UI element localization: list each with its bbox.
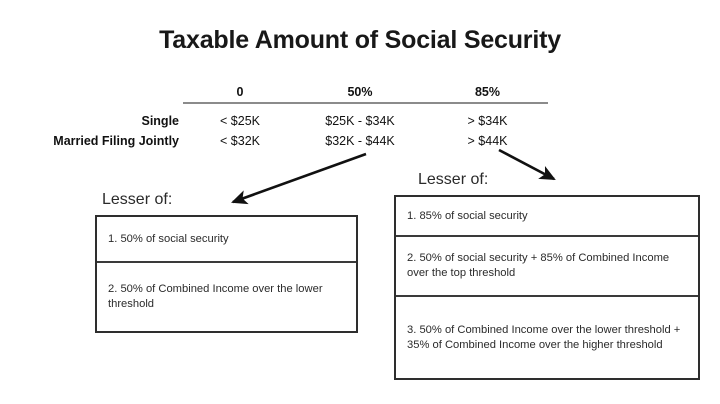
- list-item: 2. 50% of social security + 85% of Combi…: [396, 237, 698, 297]
- arrow-to-right-box: [499, 150, 554, 179]
- cell-married-50: $32K - $44K: [295, 134, 425, 148]
- row-label-married-filing-jointly: Married Filing Jointly: [46, 134, 185, 148]
- left-lesser-of-box: 1. 50% of social security 2. 50% of Comb…: [95, 215, 358, 333]
- right-box-label: Lesser of:: [418, 171, 488, 189]
- table-row: Single < $25K $25K - $34K > $34K: [46, 111, 556, 131]
- cell-married-85: > $44K: [425, 134, 550, 148]
- table-row: Married Filing Jointly < $32K $32K - $44…: [46, 131, 556, 151]
- cell-single-85: > $34K: [425, 114, 550, 128]
- row-label-single: Single: [46, 114, 185, 128]
- table-header-85: 85%: [425, 85, 550, 99]
- list-item: 1. 85% of social security: [396, 197, 698, 237]
- cell-single-50: $25K - $34K: [295, 114, 425, 128]
- table-header-0: 0: [185, 85, 295, 99]
- right-lesser-of-box: 1. 85% of social security 2. 50% of soci…: [394, 195, 700, 380]
- page-title: Taxable Amount of Social Security: [0, 26, 720, 55]
- table-header-rule: [183, 102, 548, 104]
- arrow-to-left-box: [233, 154, 366, 202]
- infographic-canvas: Taxable Amount of Social Security 0 50% …: [0, 0, 720, 404]
- left-box-label: Lesser of:: [102, 191, 172, 209]
- list-item: 3. 50% of Combined Income over the lower…: [396, 297, 698, 378]
- table-header-row: 0 50% 85%: [46, 82, 556, 101]
- cell-married-0: < $32K: [185, 134, 295, 148]
- threshold-table: 0 50% 85% Single < $25K $25K - $34K > $3…: [46, 82, 556, 151]
- list-item: 1. 50% of social security: [97, 217, 356, 263]
- table-header-50: 50%: [295, 85, 425, 99]
- cell-single-0: < $25K: [185, 114, 295, 128]
- list-item: 2. 50% of Combined Income over the lower…: [97, 263, 356, 331]
